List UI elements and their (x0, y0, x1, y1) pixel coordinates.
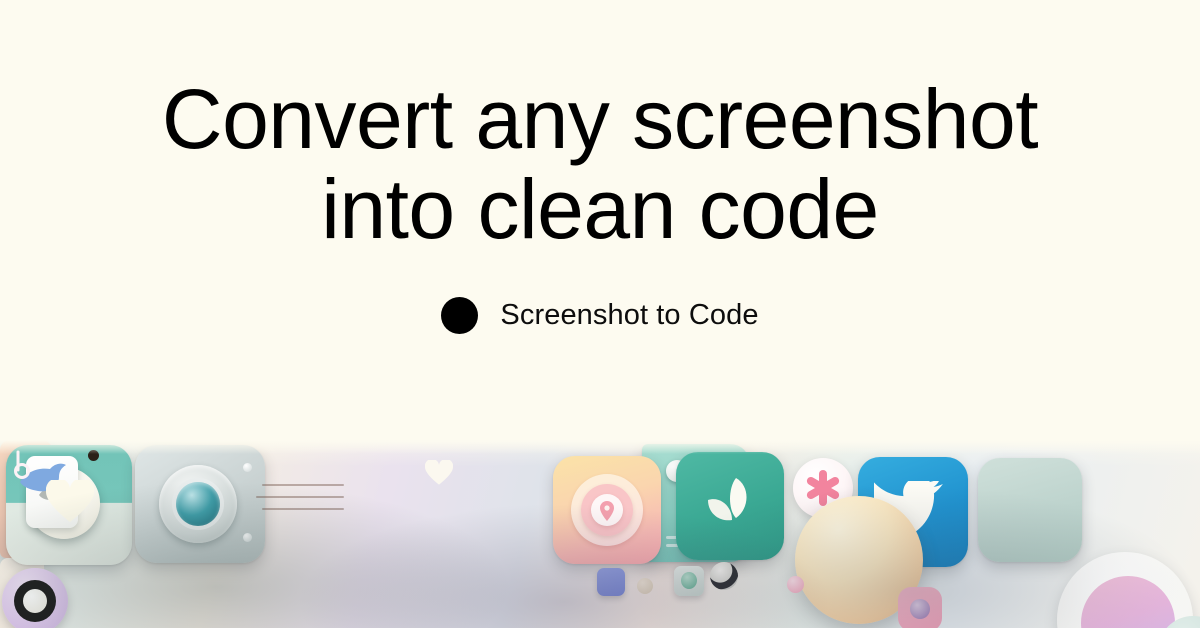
headline-line-1: Convert any screenshot (162, 72, 1038, 166)
b-letter-icon (12, 450, 32, 480)
page-title: Convert any screenshot into clean code (162, 75, 1038, 255)
pink-bead (787, 576, 804, 593)
ring-core (23, 589, 47, 613)
dark-ring-widget (710, 562, 738, 590)
camera-grey-tile (135, 445, 265, 563)
headline-line-2: into clean code (321, 162, 879, 256)
leaf-icon (698, 474, 762, 538)
heart-icon (46, 480, 94, 524)
og-social-card: Convert any screenshot into clean code S… (0, 0, 1200, 628)
camera-dot-icon (243, 533, 252, 542)
hero-text-block: Convert any screenshot into clean code S… (0, 0, 1200, 445)
brand-row: Screenshot to Code (441, 297, 758, 334)
heart-icon (425, 460, 453, 486)
divider-line (262, 484, 344, 486)
camera-lens-icon (176, 482, 220, 526)
black-circle-icon (441, 297, 478, 334)
bird-eye-dot (88, 450, 99, 461)
divider-line (256, 496, 344, 498)
location-pin-icon (599, 501, 615, 521)
blue-square-widget (597, 568, 625, 596)
teal-gem-core (681, 572, 697, 589)
leaf-tile (676, 452, 784, 560)
location-tile (553, 456, 661, 564)
pink-camera-lens (910, 599, 930, 619)
tan-dot-widget (637, 578, 653, 594)
divider-line (262, 508, 344, 510)
artwork-strip (0, 440, 1200, 628)
brand-name: Screenshot to Code (500, 299, 758, 332)
mint-card-tile (978, 458, 1082, 562)
camera-dot-icon (243, 463, 252, 472)
